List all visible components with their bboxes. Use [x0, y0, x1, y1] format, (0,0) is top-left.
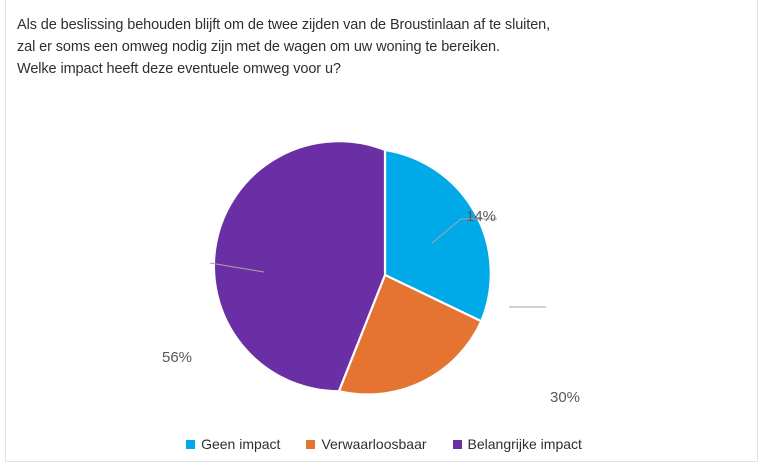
legend-label: Belangrijke impact	[468, 436, 582, 452]
data-label-belangrijke-impact: 56%	[162, 349, 192, 366]
question-line-1: Als de beslissing behouden blijft om de …	[17, 14, 717, 36]
pie-chart: 14% 30% 56%	[0, 95, 768, 425]
legend-item-geen-impact[interactable]: Geen impact	[186, 436, 280, 452]
legend-swatch-icon	[186, 440, 195, 449]
question-title: Als de beslissing behouden blijft om de …	[17, 14, 717, 80]
question-line-2: zal er soms een omweg nodig zijn met de …	[17, 36, 717, 58]
legend-swatch-icon	[306, 440, 315, 449]
data-label-verwaarloosbaar: 30%	[550, 389, 580, 406]
legend-label: Geen impact	[201, 436, 280, 452]
pie-chart-svg	[0, 95, 768, 425]
data-label-geen-impact: 14%	[466, 208, 496, 225]
question-line-3: Welke impact heeft deze eventuele omweg …	[17, 58, 717, 80]
legend-item-verwaarloosbaar[interactable]: Verwaarloosbaar	[306, 436, 426, 452]
legend-swatch-icon	[453, 440, 462, 449]
chart-screenshot: Als de beslissing behouden blijft om de …	[0, 0, 768, 470]
legend-label: Verwaarloosbaar	[321, 436, 426, 452]
legend-item-belangrijke-impact[interactable]: Belangrijke impact	[453, 436, 582, 452]
chart-legend: Geen impact Verwaarloosbaar Belangrijke …	[0, 436, 768, 452]
